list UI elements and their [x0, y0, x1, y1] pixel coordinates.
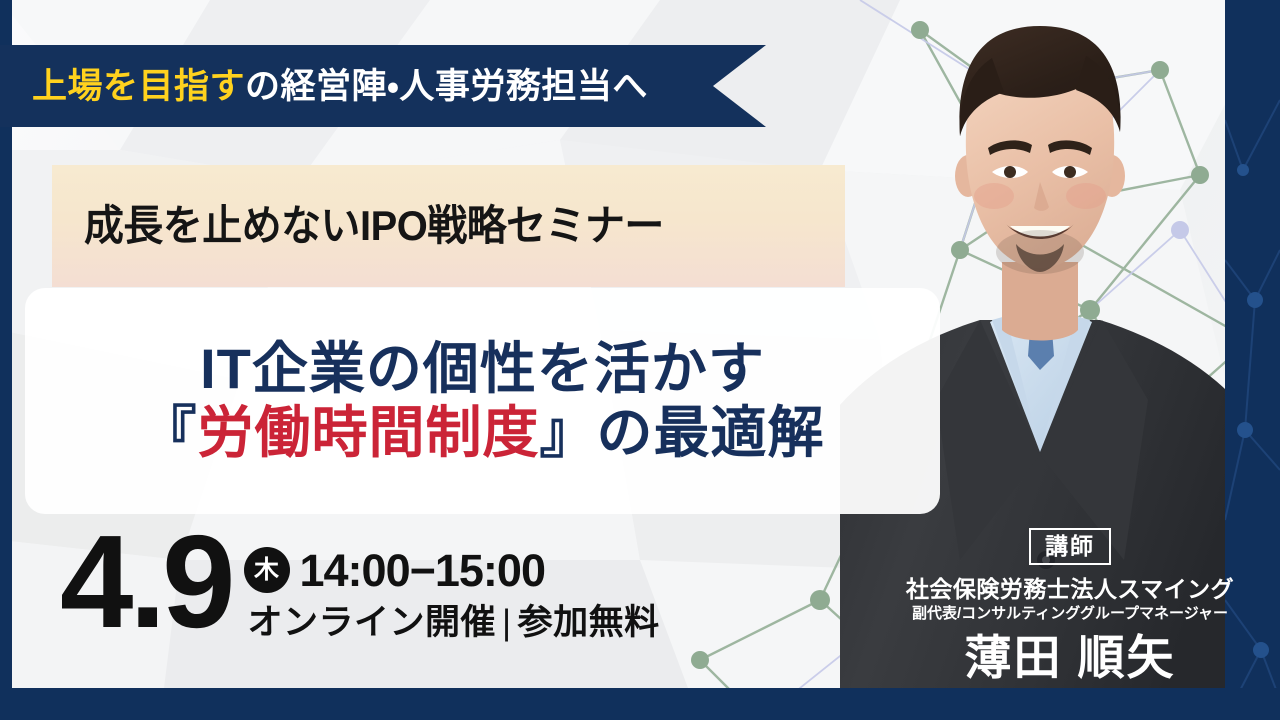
audience-ribbon-text: 上場を目指すの経営陣・人事労務担当へ — [32, 69, 648, 104]
event-separator: | — [502, 603, 512, 642]
audience-ribbon: 上場を目指すの経営陣・人事労務担当へ — [0, 45, 766, 127]
event-time: 14:00−15:00 — [300, 548, 545, 593]
title-accent-term: 労働時間制度 — [198, 401, 540, 464]
seminar-subtitle-band: 成長を止めないIPO戦略セミナー — [52, 165, 845, 287]
main-title-panel: IT企業の個性を活かす 『労働時間制度』の最適解 — [25, 288, 940, 514]
event-date: 4.9 — [60, 525, 232, 639]
ribbon-highlight: 上場を目指す — [32, 67, 245, 106]
seminar-banner: 上場を目指すの経営陣・人事労務担当へ 成長を止めないIPO戦略セミナー IT企業… — [0, 0, 1280, 720]
event-time-row: 木 14:00−15:00 — [244, 547, 660, 593]
speaker-role: 副代表/コンサルティンググループマネージャー — [905, 605, 1235, 623]
weekday-badge: 木 — [244, 547, 290, 593]
event-mode-row: オンライン開催|参加無料 — [248, 605, 660, 640]
title-bracket-open: 『 — [141, 401, 198, 464]
seminar-subtitle: 成長を止めないIPO戦略セミナー — [84, 205, 664, 247]
event-time-block: 木 14:00−15:00 オンライン開催|参加無料 — [244, 547, 660, 640]
title-bracket-close: 』 — [540, 401, 597, 464]
speaker-tag: 講師 — [1029, 528, 1111, 565]
title-tail: の最適解 — [597, 401, 825, 464]
speaker-organization: 社会保険労務士法人スマイング — [905, 576, 1235, 602]
event-date-block: 4.9 木 14:00−15:00 オンライン開催|参加無料 — [60, 525, 660, 640]
frame-border-bottom — [0, 688, 1280, 720]
main-title-line-2: 『労働時間制度』の最適解 — [141, 403, 825, 463]
speaker-name: 薄田 順矢 — [905, 633, 1235, 682]
main-title-line-1: IT企業の個性を活かす — [200, 339, 765, 399]
event-venue: オンライン開催 — [248, 603, 497, 642]
ribbon-rest: の経営陣・人事労務担当へ — [245, 67, 648, 106]
speaker-credits: 講師 社会保険労務士法人スマイング 副代表/コンサルティンググループマネージャー… — [905, 528, 1235, 682]
event-fee: 参加無料 — [518, 603, 660, 642]
